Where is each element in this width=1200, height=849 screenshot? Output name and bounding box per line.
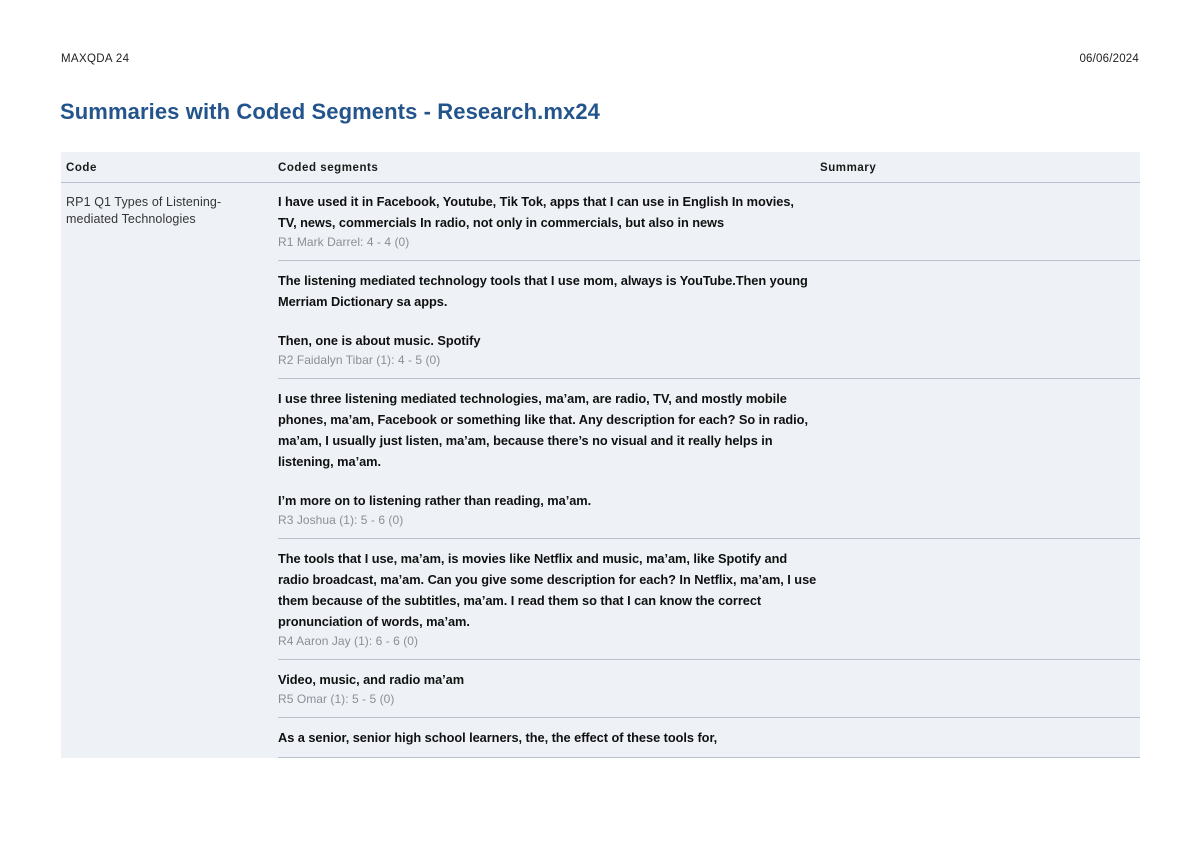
segment-source: R4 Aaron Jay (1): 6 - 6 (0) (278, 633, 1140, 650)
segment-text-continued: I’m more on to listening rather than rea… (278, 490, 808, 511)
code-cell: RP1 Q1 Types of Listening-mediated Techn… (61, 183, 278, 758)
segment-text: The tools that I use, ma’am, is movies l… (278, 548, 818, 632)
coded-segment[interactable]: The tools that I use, ma’am, is movies l… (278, 539, 1140, 660)
export-date-label: 06/06/2024 (1079, 53, 1139, 65)
column-header-summary: Summary (820, 161, 1140, 174)
table-header-row: Code Coded segments Summary (61, 152, 1140, 183)
column-header-code: Code (61, 161, 278, 174)
table-row: RP1 Q1 Types of Listening-mediated Techn… (61, 183, 1140, 758)
segment-text-continued: Then, one is about music. Spotify (278, 330, 808, 351)
column-header-coded-segments: Coded segments (278, 161, 820, 174)
running-head: MAXQDA 24 06/06/2024 (61, 53, 1139, 69)
coded-segment[interactable]: The listening mediated technology tools … (278, 261, 1140, 379)
segment-text: Video, music, and radio ma’am (278, 669, 808, 690)
coded-segments-cell: I have used it in Facebook, Youtube, Tik… (278, 183, 1140, 758)
segment-text: As a senior, senior high school learners… (278, 727, 818, 748)
segment-source: R5 Omar (1): 5 - 5 (0) (278, 691, 1140, 708)
segment-spacer (278, 472, 1140, 490)
segment-spacer (278, 312, 1140, 330)
segment-text: I use three listening mediated technolog… (278, 388, 808, 472)
segment-text: I have used it in Facebook, Youtube, Tik… (278, 191, 808, 233)
summaries-table: Code Coded segments Summary RP1 Q1 Types… (61, 152, 1140, 758)
segment-text: The listening mediated technology tools … (278, 270, 808, 312)
segment-source: R3 Joshua (1): 5 - 6 (0) (278, 512, 1140, 529)
code-label: RP1 Q1 Types of Listening-mediated Techn… (66, 194, 268, 227)
app-name-label: MAXQDA 24 (61, 53, 129, 65)
coded-segment[interactable]: As a senior, senior high school learners… (278, 718, 1140, 758)
coded-segment[interactable]: Video, music, and radio ma’am R5 Omar (1… (278, 660, 1140, 718)
coded-segment[interactable]: I use three listening mediated technolog… (278, 379, 1140, 539)
coded-segment[interactable]: I have used it in Facebook, Youtube, Tik… (278, 183, 1140, 261)
segment-source: R1 Mark Darrel: 4 - 4 (0) (278, 234, 1140, 251)
page-title: Summaries with Coded Segments - Research… (60, 99, 600, 125)
segment-source: R2 Faidalyn Tibar (1): 4 - 5 (0) (278, 352, 1140, 369)
document-page: MAXQDA 24 06/06/2024 Summaries with Code… (0, 0, 1200, 849)
